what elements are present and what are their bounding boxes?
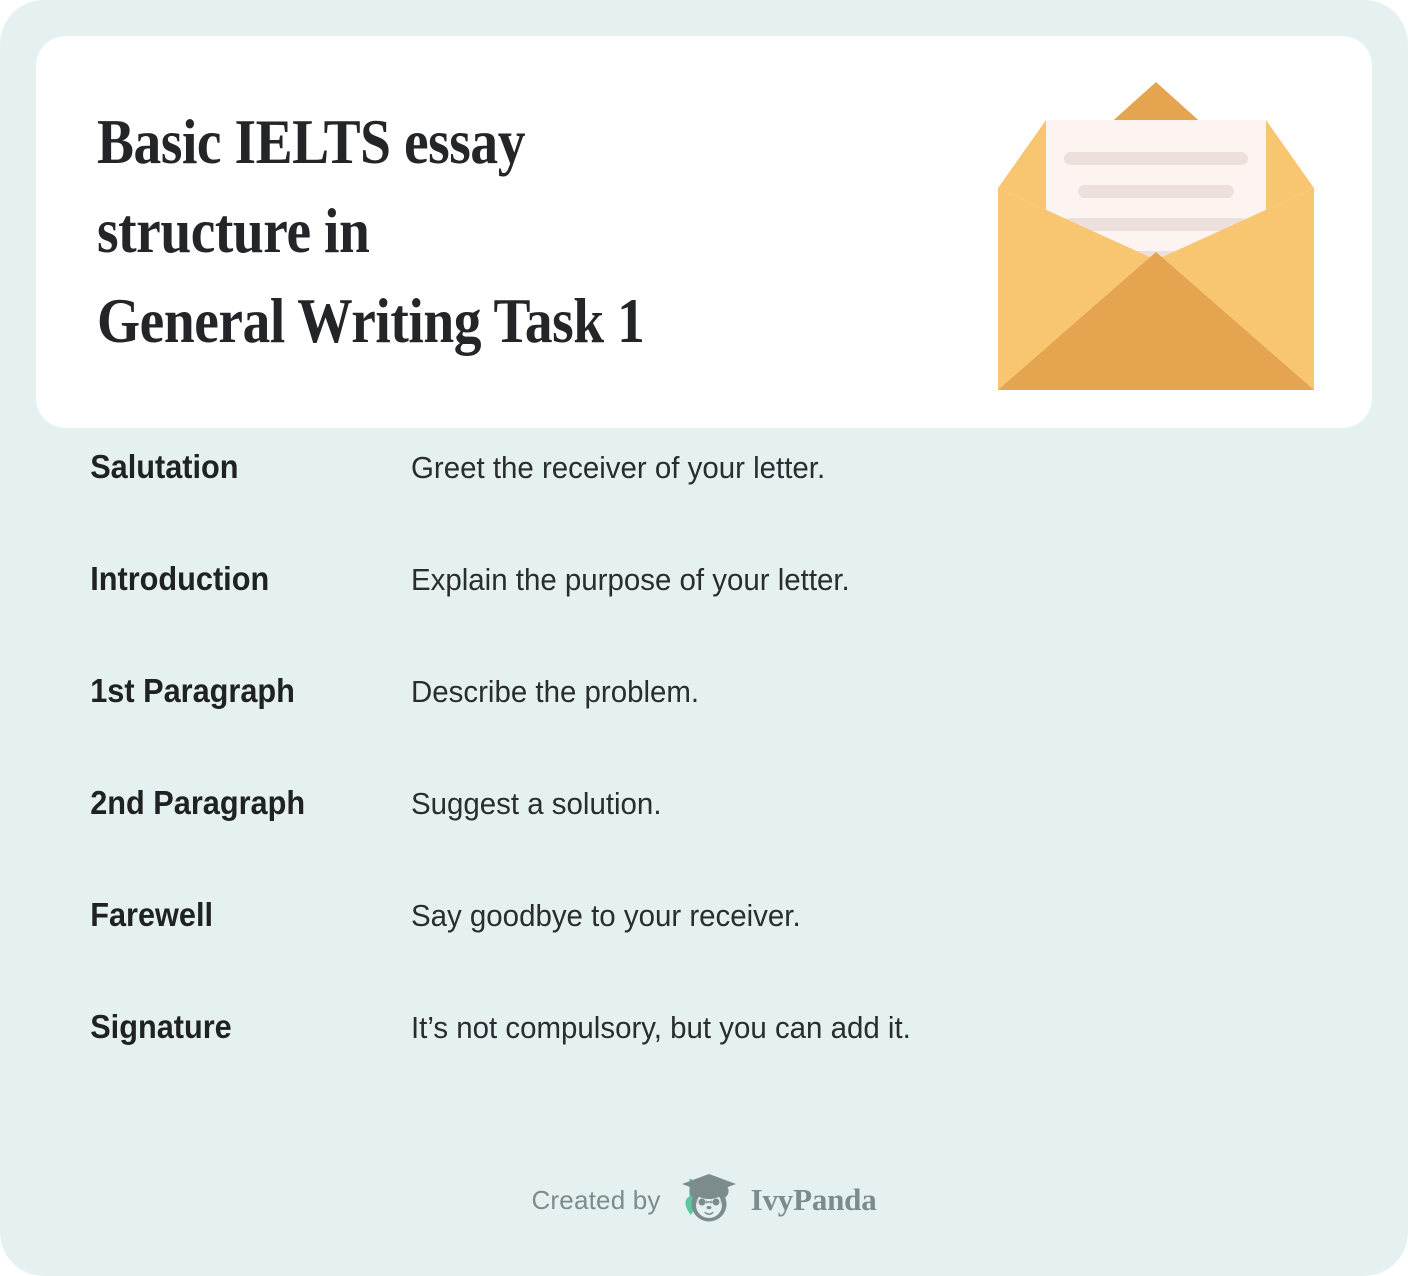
essay-structure-list: Salutation Greet the receiver of your le… (0, 450, 1408, 1122)
header-card: Basic IELTS essay structure in General W… (36, 36, 1372, 428)
list-item: 2nd Paragraph Suggest a solution. (0, 786, 1408, 898)
list-item: Introduction Explain the purpose of your… (0, 562, 1408, 674)
structure-label: Signature (0, 1010, 382, 1043)
structure-label: Introduction (0, 562, 382, 595)
structure-label: 2nd Paragraph (0, 786, 382, 819)
structure-description: It’s not compulsory, but you can add it. (411, 1012, 1358, 1043)
structure-label: 1st Paragraph (0, 674, 382, 707)
created-by-label: Created by (531, 1185, 660, 1216)
structure-description: Greet the receiver of your letter. (411, 452, 1358, 483)
list-item: Farewell Say goodbye to your receiver. (0, 898, 1408, 1010)
structure-label: Farewell (0, 898, 382, 931)
page-title: Basic IELTS essay structure in General W… (97, 98, 678, 366)
footer-credit: Created by (0, 1172, 1408, 1228)
structure-description: Say goodbye to your receiver. (411, 900, 1358, 931)
infographic-root: Basic IELTS essay structure in General W… (0, 0, 1408, 1276)
structure-description: Explain the purpose of your letter. (411, 564, 1358, 595)
structure-description: Suggest a solution. (411, 788, 1358, 819)
brand-name: IvyPanda (751, 1182, 877, 1218)
list-item: Signature It’s not compulsory, but you c… (0, 1010, 1408, 1122)
structure-label: Salutation (0, 450, 382, 483)
ivypanda-panda-graduate-logo (675, 1172, 737, 1228)
list-item: 1st Paragraph Describe the problem. (0, 674, 1408, 786)
structure-description: Describe the problem. (411, 676, 1358, 707)
list-item: Salutation Greet the receiver of your le… (0, 450, 1408, 562)
open-envelope-with-letter-icon (976, 60, 1336, 410)
